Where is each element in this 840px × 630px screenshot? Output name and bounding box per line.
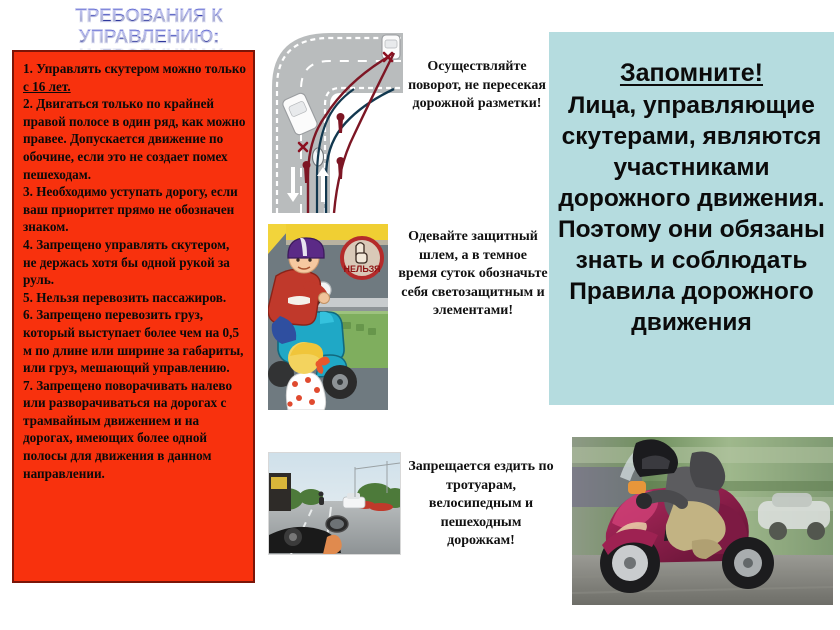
rule-item-2: 2. Двигаться только по крайней правой по…	[23, 95, 246, 183]
distant-rider	[319, 492, 325, 506]
rule-item-6: 6. Запрещено перевозить груз, который вы…	[23, 306, 246, 376]
caption-sidewalk: Запрещается ездить по тротуарам, велосип…	[408, 458, 554, 551]
caption-helmet: Одевайте защитный шлем, а в темное время…	[398, 228, 548, 321]
poster-canvas: ТРЕБОВАНИЯ К УПРАВЛЕНИЮ: ТРЕБОВАНИЯ К УП…	[0, 0, 840, 630]
road-turn-diagram	[268, 27, 403, 213]
rule-1-underlined: с 16 лет.	[23, 79, 71, 94]
moving-scooter-photo	[572, 437, 833, 605]
page-title: ТРЕБОВАНИЯ К УПРАВЛЕНИЮ:	[44, 6, 254, 54]
scooter-rider-cartoon: НЕЛЬЗЯ	[268, 224, 388, 410]
page-title-line-2: УПРАВЛЕНИЮ:	[44, 27, 254, 48]
rule-item-5: 5. Нельзя перевозить пассажиров.	[23, 289, 246, 307]
page-title-line-1: ТРЕБОВАНИЯ К	[44, 6, 254, 27]
svg-text:НЕЛЬЗЯ: НЕЛЬЗЯ	[344, 264, 381, 274]
remember-body: Лица, управляющие скутерами, являются уч…	[557, 90, 826, 338]
first-person-road-photo	[268, 452, 401, 555]
nelzya-sign: НЕЛЬЗЯ	[342, 238, 382, 278]
rule-item-3: 3. Необходимо уступать дорогу, если ваш …	[23, 183, 246, 236]
remember-panel: Запомните! Лица, управляющие скутерами, …	[549, 32, 834, 405]
rear-wheel	[722, 537, 774, 589]
remember-heading: Запомните!	[557, 58, 826, 89]
requirements-list: 1. Управлять скутером можно только с 16 …	[23, 60, 246, 482]
rule-item-7: 7. Запрещено поворачивать налево или раз…	[23, 377, 246, 483]
requirements-panel: 1. Управлять скутером можно только с 16 …	[12, 50, 255, 583]
caption-turn: Осуществляйте поворот, не пересекая доро…	[404, 58, 550, 114]
rule-item-1: 1. Управлять скутером можно только с 16 …	[23, 60, 246, 95]
rule-item-4: 4. Запрещено управлять скутером, не держ…	[23, 236, 246, 289]
